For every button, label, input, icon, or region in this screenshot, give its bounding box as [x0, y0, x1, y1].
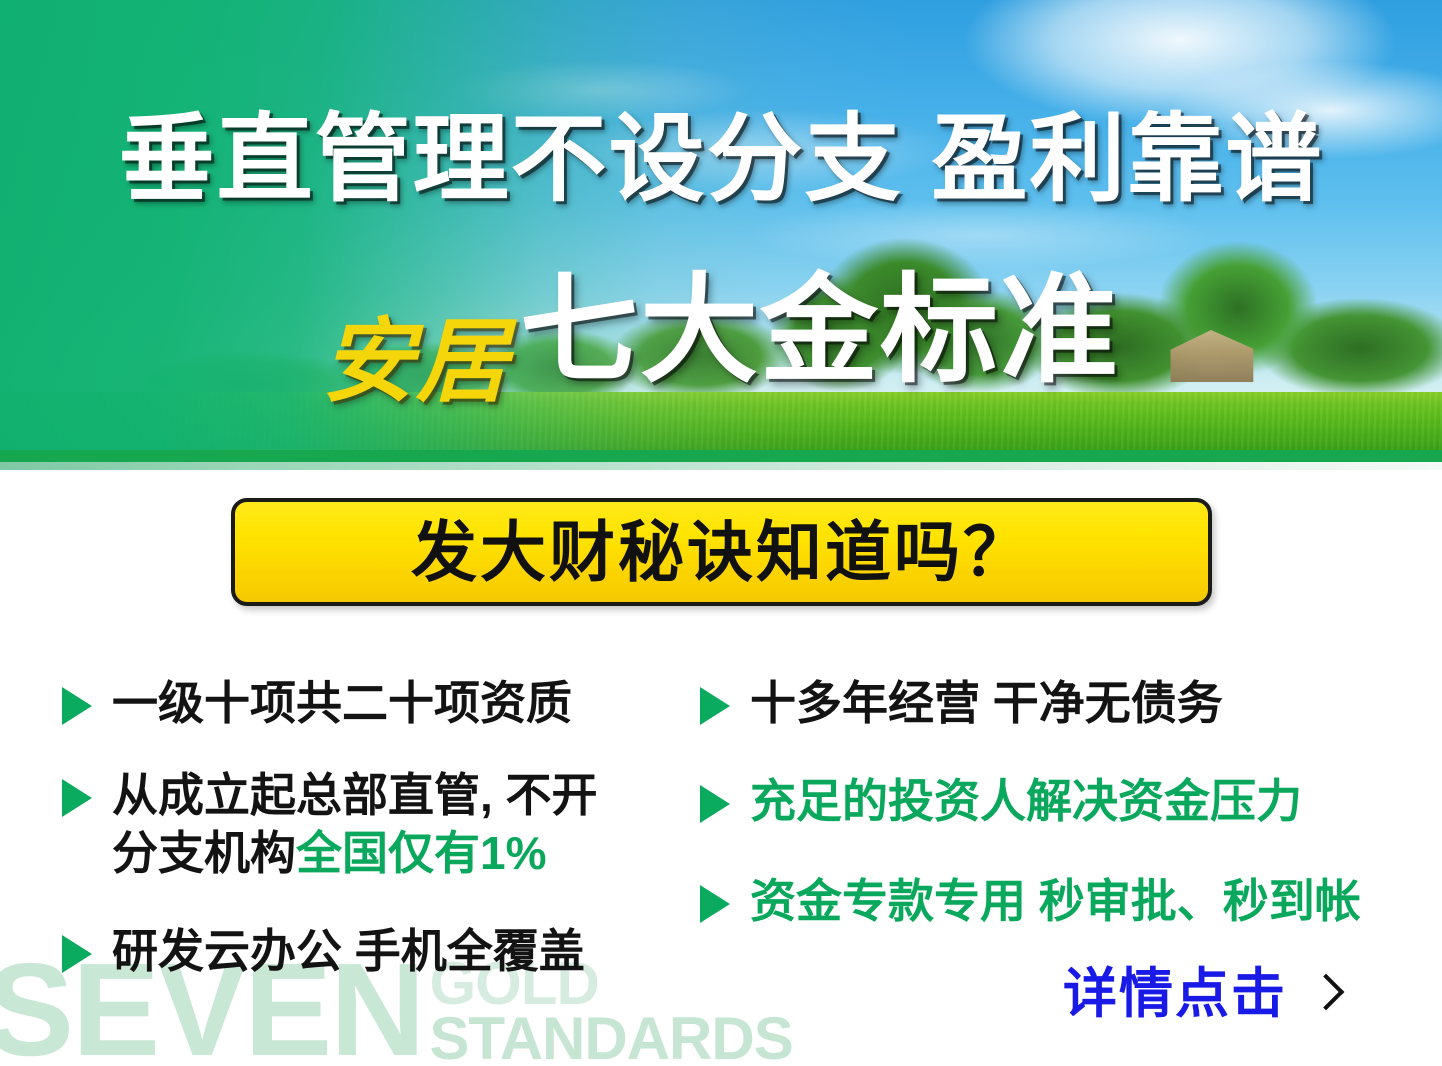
hero-banner: 垂直管理不设分支 盈利靠谱 安居七大金标准	[0, 0, 1442, 470]
bullet-line-2-highlight: 全国仅有1%	[296, 827, 546, 879]
bullet-text: 研发云办公 手机全覆盖	[112, 923, 585, 981]
feature-bullet-lists: 一级十项共二十项资质 从成立起总部直管, 不开 分支机构全国仅有1% 研发云办公…	[0, 655, 1442, 985]
triangle-bullet-icon	[62, 935, 92, 973]
headline-brand-text: 安居	[322, 316, 510, 408]
bullet-line-2: 分支机构	[112, 827, 296, 879]
watermark-standards-text: STANDARDS	[430, 1010, 793, 1066]
detail-link-label: 详情点击	[1063, 967, 1287, 1021]
cta-question-text: 发大财秘诀知道吗？	[411, 519, 1032, 585]
headline-primary: 垂直管理不设分支 盈利靠谱	[0, 112, 1442, 208]
bullet-text: 一级十项共二十项资质	[112, 675, 572, 733]
bullet-text: 充足的投资人解决资金压力	[750, 773, 1302, 831]
list-item: 充足的投资人解决资金压力	[700, 773, 1302, 831]
bullet-line-1: 研发云办公 手机全覆盖	[112, 925, 585, 977]
headline-group: 垂直管理不设分支 盈利靠谱 安居七大金标准	[0, 0, 1442, 470]
headline-slogan-text: 七大金标准	[520, 272, 1120, 390]
bullet-text: 资金专款专用 秒审批、秒到帐	[750, 873, 1361, 931]
triangle-bullet-icon	[62, 779, 92, 817]
bullet-text: 十多年经营 干净无债务	[750, 675, 1223, 733]
advertisement-banner-page: 垂直管理不设分支 盈利靠谱 安居七大金标准 发大财秘诀知道吗？ SEVEN GO…	[0, 0, 1442, 1066]
bullet-line-1: 一级十项共二十项资质	[112, 677, 572, 729]
cta-question-banner[interactable]: 发大财秘诀知道吗？	[231, 498, 1212, 606]
triangle-bullet-icon	[700, 785, 730, 823]
list-item: 十多年经营 干净无债务	[700, 675, 1223, 733]
triangle-bullet-icon	[700, 885, 730, 923]
chevron-right-icon	[1311, 972, 1337, 1016]
list-item: 从成立起总部直管, 不开 分支机构全国仅有1%	[62, 767, 598, 883]
triangle-bullet-icon	[700, 687, 730, 725]
bullet-line-1: 从成立起总部直管, 不开	[112, 769, 598, 821]
list-item: 资金专款专用 秒审批、秒到帐	[700, 873, 1361, 931]
triangle-bullet-icon	[62, 687, 92, 725]
list-item: 一级十项共二十项资质	[62, 675, 572, 733]
headline-secondary: 安居七大金标准	[0, 272, 1442, 390]
bullet-text: 从成立起总部直管, 不开 分支机构全国仅有1%	[112, 767, 598, 883]
list-item: 研发云办公 手机全覆盖	[62, 923, 585, 981]
detail-click-link[interactable]: 详情点击	[1063, 967, 1337, 1021]
